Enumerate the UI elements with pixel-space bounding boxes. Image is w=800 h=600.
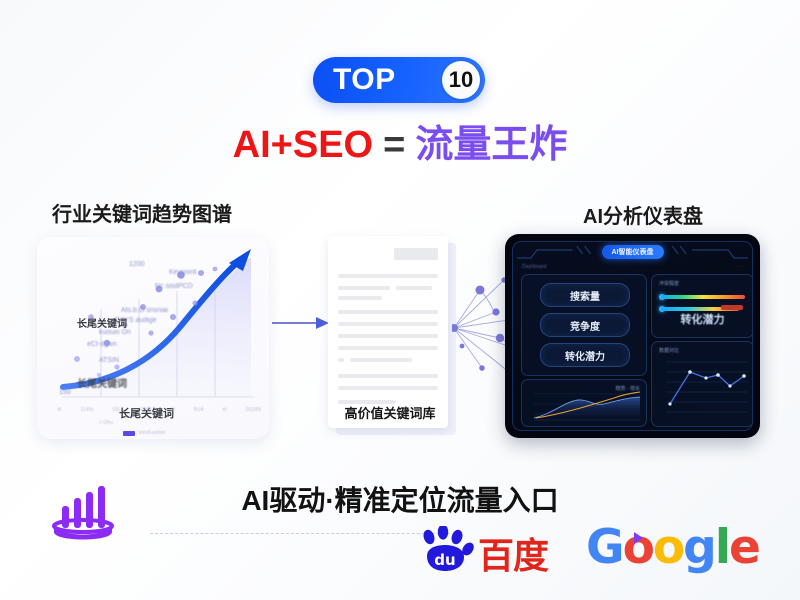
gauge-panel-title: 冲突程度 — [659, 280, 679, 287]
dashboard-screen: AI智能仪表盘 Dashboard ··· 搜索量 竞争度 转化潜力 冲突程度 … — [512, 241, 753, 431]
bar-chart-icon — [48, 484, 118, 540]
doc-text-line — [338, 346, 438, 350]
dashboard-header: AI智能仪表盘 — [513, 242, 752, 264]
doc-text-line — [338, 296, 382, 300]
gauge-panel: 冲突程度 转化潜力 — [651, 274, 753, 338]
section-title-left: 行业关键词趋势图谱 — [52, 198, 232, 227]
dashboard-menu-icon[interactable]: ··· — [735, 264, 744, 270]
metric-pill-competition[interactable]: 竞争度 — [540, 313, 630, 337]
line-chart-panel: 数据对比 — [651, 341, 753, 427]
chart-blur-word: ATSIN — [99, 357, 119, 364]
gauge-alert-chip — [721, 305, 743, 310]
google-letter-g: g — [683, 520, 715, 575]
doc-text-line — [338, 358, 344, 362]
headline-operator: = — [383, 124, 405, 166]
metric-pill-conversion[interactable]: 转化潜力 — [540, 343, 630, 367]
doc-text-line — [338, 310, 438, 314]
google-letter-e: e — [729, 520, 759, 575]
metrics-panel: 搜索量 竞争度 转化潜力 — [521, 274, 647, 376]
line-chart-svg — [652, 342, 753, 426]
doc-text-line — [338, 334, 438, 338]
page-title: AI+SEO=流量王炸 — [0, 126, 800, 164]
keyword-label: 长尾关键词 — [77, 315, 127, 330]
baidu-logo-text: 百度 — [478, 538, 548, 574]
doc-text-line — [338, 322, 438, 326]
section-title-right: AI分析仪表盘 — [583, 200, 703, 229]
badge-rank-circle: 10 — [442, 61, 480, 99]
dashboard-brand: Dashboard — [522, 264, 546, 270]
chart-blur-word: Ats.b.O snsniai — [121, 307, 168, 314]
doc-text-line — [396, 286, 432, 290]
gauge-bar — [661, 295, 745, 299]
x-tick: 4t — [171, 407, 176, 417]
chart-blur-word: Keyword — [169, 269, 196, 276]
flow-arrow-icon — [272, 316, 330, 330]
headline-right: 流量王炸 — [415, 124, 567, 166]
area-chart-svg — [522, 380, 646, 426]
doc-text-line — [338, 374, 438, 378]
google-letter-G: G — [586, 520, 623, 575]
ai-dashboard-card: AI智能仪表盘 Dashboard ··· 搜索量 竞争度 转化潜力 冲突程度 … — [505, 234, 760, 438]
chart-blur-word: 1200 — [129, 261, 145, 268]
chart-x-axis: 4t 114% 03L 1844 4t 5U4 st 2024N — [57, 407, 261, 417]
google-letter-o2: o — [653, 520, 683, 575]
gauge-overlay-label: 转化潜力 — [652, 311, 753, 327]
badge-rank-number: 10 — [449, 69, 473, 91]
x-tick: 114% — [80, 407, 93, 417]
google-letter-l: l — [715, 520, 729, 575]
footer-divider — [150, 533, 450, 534]
x-tick: 5U4 — [194, 407, 204, 417]
badge-label: TOP — [333, 65, 396, 95]
top-rank-badge: TOP 10 — [313, 57, 485, 103]
svg-text:du: du — [434, 551, 455, 569]
doc-text-line — [350, 358, 412, 362]
trend-chart-card: 1200 Keyword Nc sisdPCD Ats.b.O snsniai … — [37, 237, 269, 439]
x-tick: 1844 — [140, 407, 152, 417]
infographic-canvas: TOP 10 AI+SEO=流量王炸 行业关键词趋势图谱 AI分析仪表盘 — [0, 0, 800, 600]
keyword-document-card — [328, 236, 448, 428]
chart-blur-word: 150 — [59, 389, 71, 396]
doc-header-chip — [394, 248, 438, 260]
x-tick: 2024N — [245, 407, 261, 417]
x-tick: 4t — [57, 407, 62, 417]
doc-text-line — [338, 386, 438, 390]
baidu-paw-icon: du — [418, 526, 476, 574]
doc-text-line — [338, 286, 390, 290]
x-tick: st — [222, 407, 226, 417]
baidu-logo: du 百度 — [418, 526, 548, 574]
chart-legend: trend-series — [123, 430, 165, 436]
legend-swatch-icon — [123, 431, 135, 436]
google-logo: Google — [586, 524, 759, 571]
chart-blur-word: Nc sisdPCD — [155, 283, 193, 290]
footer-tagline: AI驱动·精准定位流量入口 — [0, 479, 800, 519]
chart-blur-word: eCt-dgwn — [87, 341, 117, 348]
area-chart-panel: 趋势 · 增长 — [521, 379, 647, 427]
google-letter-o1: o — [623, 520, 653, 575]
chart-blur-word: kuouio On — [99, 329, 131, 336]
headline-left: AI+SEO — [233, 124, 373, 166]
x-tick: 03L — [112, 407, 121, 417]
doc-text-line — [338, 274, 438, 278]
dashboard-title-pill: AI智能仪表盘 — [602, 245, 664, 259]
metric-pill-search-volume[interactable]: 搜索量 — [540, 283, 630, 307]
play-triangle-icon — [634, 532, 643, 544]
search-engine-logos: du 百度 Google — [418, 520, 748, 582]
chart-x-label: + t3hu — [99, 420, 113, 426]
document-caption: 高价值关键词库 — [329, 403, 451, 422]
legend-label: trend-series — [139, 430, 165, 436]
keyword-label: 长尾关键词 — [77, 375, 127, 390]
